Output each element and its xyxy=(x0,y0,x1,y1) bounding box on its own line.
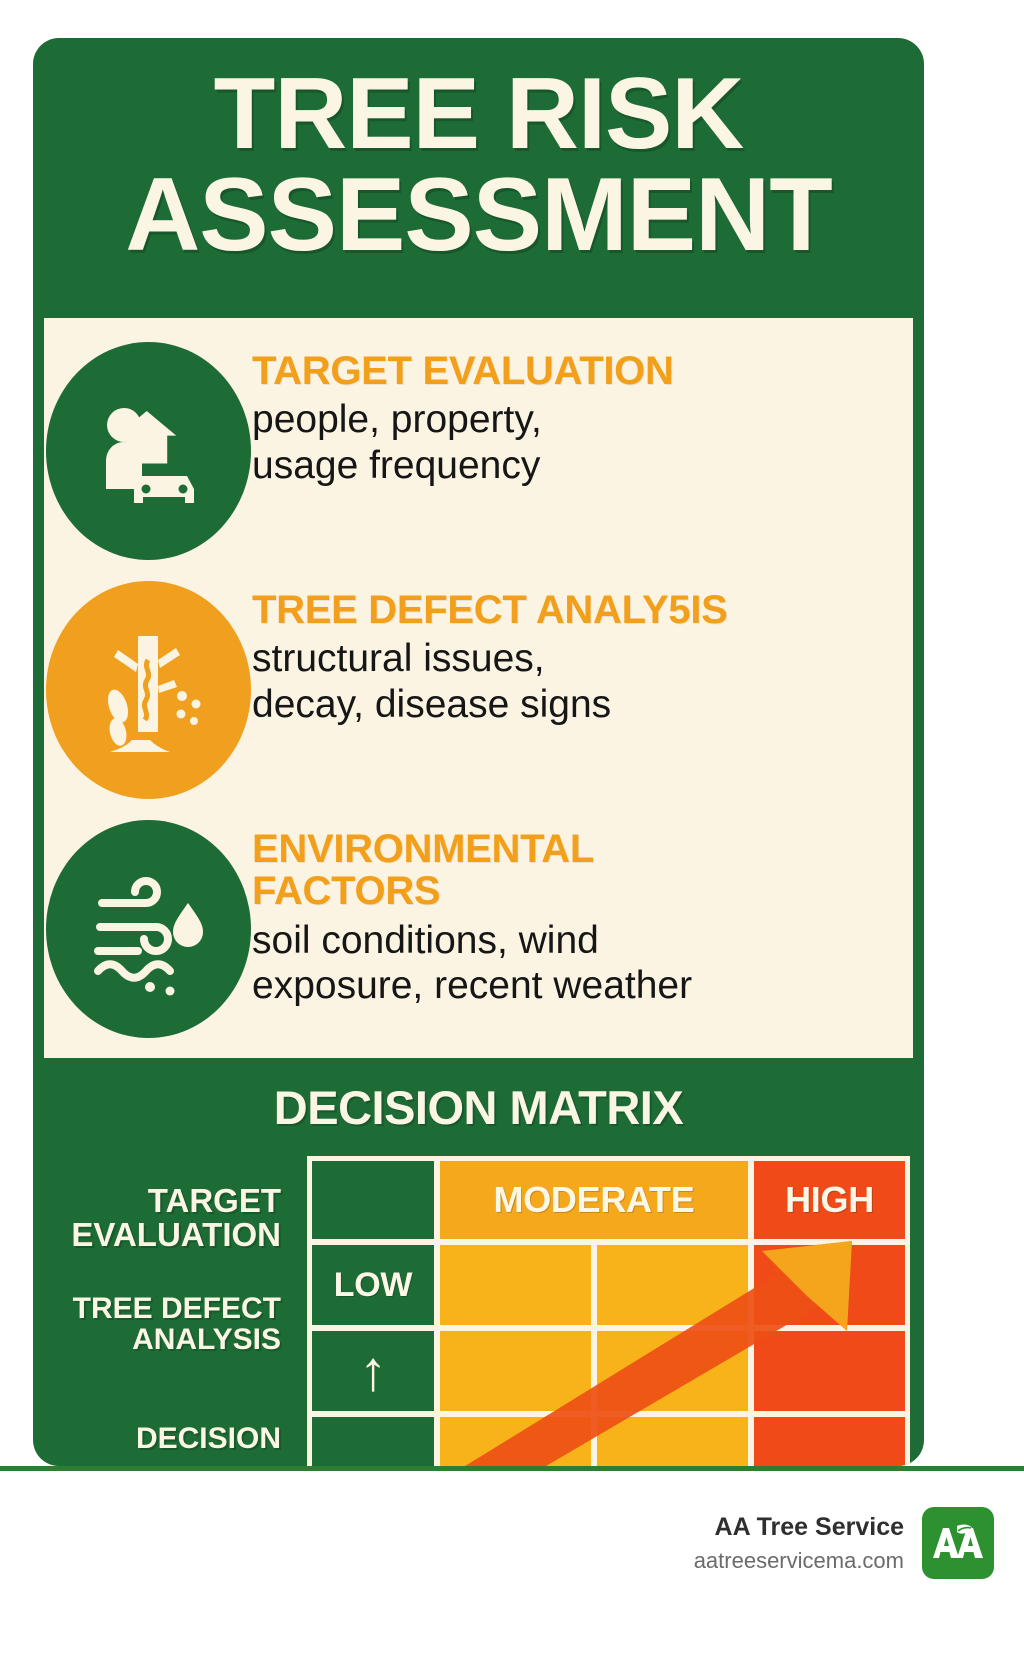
matrix-cell xyxy=(754,1245,905,1325)
matrix-grid: MODERATE HIGH LOW ↑ xyxy=(307,1156,910,1466)
up-arrow-icon: ↑ xyxy=(359,1343,387,1399)
footer-text: AA Tree Service aatreeservicema.com xyxy=(694,1512,904,1574)
matrix-cell xyxy=(440,1245,591,1325)
factor-title: TREE DEFECT ANALY5IS xyxy=(252,589,905,631)
tree-trunk-defect-icon xyxy=(46,581,251,799)
matrix-header-high: HIGH xyxy=(754,1161,905,1239)
poster-card: TREE RISK ASSESSMENT xyxy=(33,38,924,1466)
factor-badge xyxy=(44,332,252,560)
factors-panel: TARGET EVALUATION people, property, usag… xyxy=(44,318,913,1058)
website-url[interactable]: aatreeservicema.com xyxy=(694,1548,904,1574)
matrix-row-label-decision: DECISION xyxy=(33,1424,281,1455)
factor-row-target-evaluation: TARGET EVALUATION people, property, usag… xyxy=(44,332,913,572)
decision-matrix-heading: DECISION MATRIX xyxy=(33,1080,924,1135)
matrix-cell xyxy=(312,1417,434,1466)
matrix-cell-corner xyxy=(312,1161,434,1239)
decision-matrix: TARGET EVALUATION TREE DEFECT ANALYSIS D… xyxy=(33,1148,924,1466)
matrix-cell-axis-arrow: ↑ xyxy=(312,1331,434,1411)
factor-badge xyxy=(44,810,252,1038)
matrix-cell xyxy=(597,1417,748,1466)
factor-body: structural issues, decay, disease signs xyxy=(252,636,905,726)
matrix-cell xyxy=(754,1331,905,1411)
factor-text: TARGET EVALUATION people, property, usag… xyxy=(252,332,913,488)
factor-body: people, property, usage frequency xyxy=(252,397,905,487)
matrix-row-label-target-evaluation: TARGET EVALUATION xyxy=(33,1184,281,1251)
factor-title: ENVIRONMENTAL FACTORS xyxy=(252,828,905,913)
matrix-cell xyxy=(440,1331,591,1411)
factor-body: soil conditions, wind exposure, recent w… xyxy=(252,918,905,1008)
footer-content: AA Tree Service aatreeservicema.com xyxy=(694,1507,994,1579)
matrix-row-label-tree-defect-analysis: TREE DEFECT ANALYSIS xyxy=(33,1294,281,1355)
title-line-2: ASSESSMENT xyxy=(33,164,924,267)
matrix-cell xyxy=(597,1331,748,1411)
factor-text: TREE DEFECT ANALY5IS structural issues, … xyxy=(252,571,913,727)
brand-name: AA Tree Service xyxy=(694,1512,904,1542)
matrix-row-labels: TARGET EVALUATION TREE DEFECT ANALYSIS D… xyxy=(33,1148,301,1466)
wind-water-icon xyxy=(46,820,251,1038)
factor-row-environmental-factors: ENVIRONMENTAL FACTORS soil conditions, w… xyxy=(44,810,913,1050)
factor-text: ENVIRONMENTAL FACTORS soil conditions, w… xyxy=(252,810,913,1008)
footer-bar: AA Tree Service aatreeservicema.com xyxy=(0,1471,1024,1666)
matrix-cell-low: LOW xyxy=(312,1245,434,1325)
person-house-car-icon xyxy=(46,342,251,560)
matrix-header-moderate-label: MODERATE xyxy=(494,1179,695,1221)
matrix-cell xyxy=(440,1417,591,1466)
matrix-cell xyxy=(754,1417,905,1466)
matrix-header-moderate: MODERATE xyxy=(440,1161,748,1239)
title-line-1: TREE RISK xyxy=(33,64,924,164)
matrix-cell xyxy=(597,1245,748,1325)
factor-badge xyxy=(44,571,252,799)
matrix-low-label: LOW xyxy=(334,1266,412,1305)
matrix-header-high-label: HIGH xyxy=(785,1179,874,1221)
poster-title: TREE RISK ASSESSMENT xyxy=(33,64,924,267)
factor-row-tree-defect-analysis: TREE DEFECT ANALY5IS structural issues, … xyxy=(44,571,913,811)
aa-tree-service-logo xyxy=(922,1507,994,1579)
factor-title: TARGET EVALUATION xyxy=(252,350,905,392)
